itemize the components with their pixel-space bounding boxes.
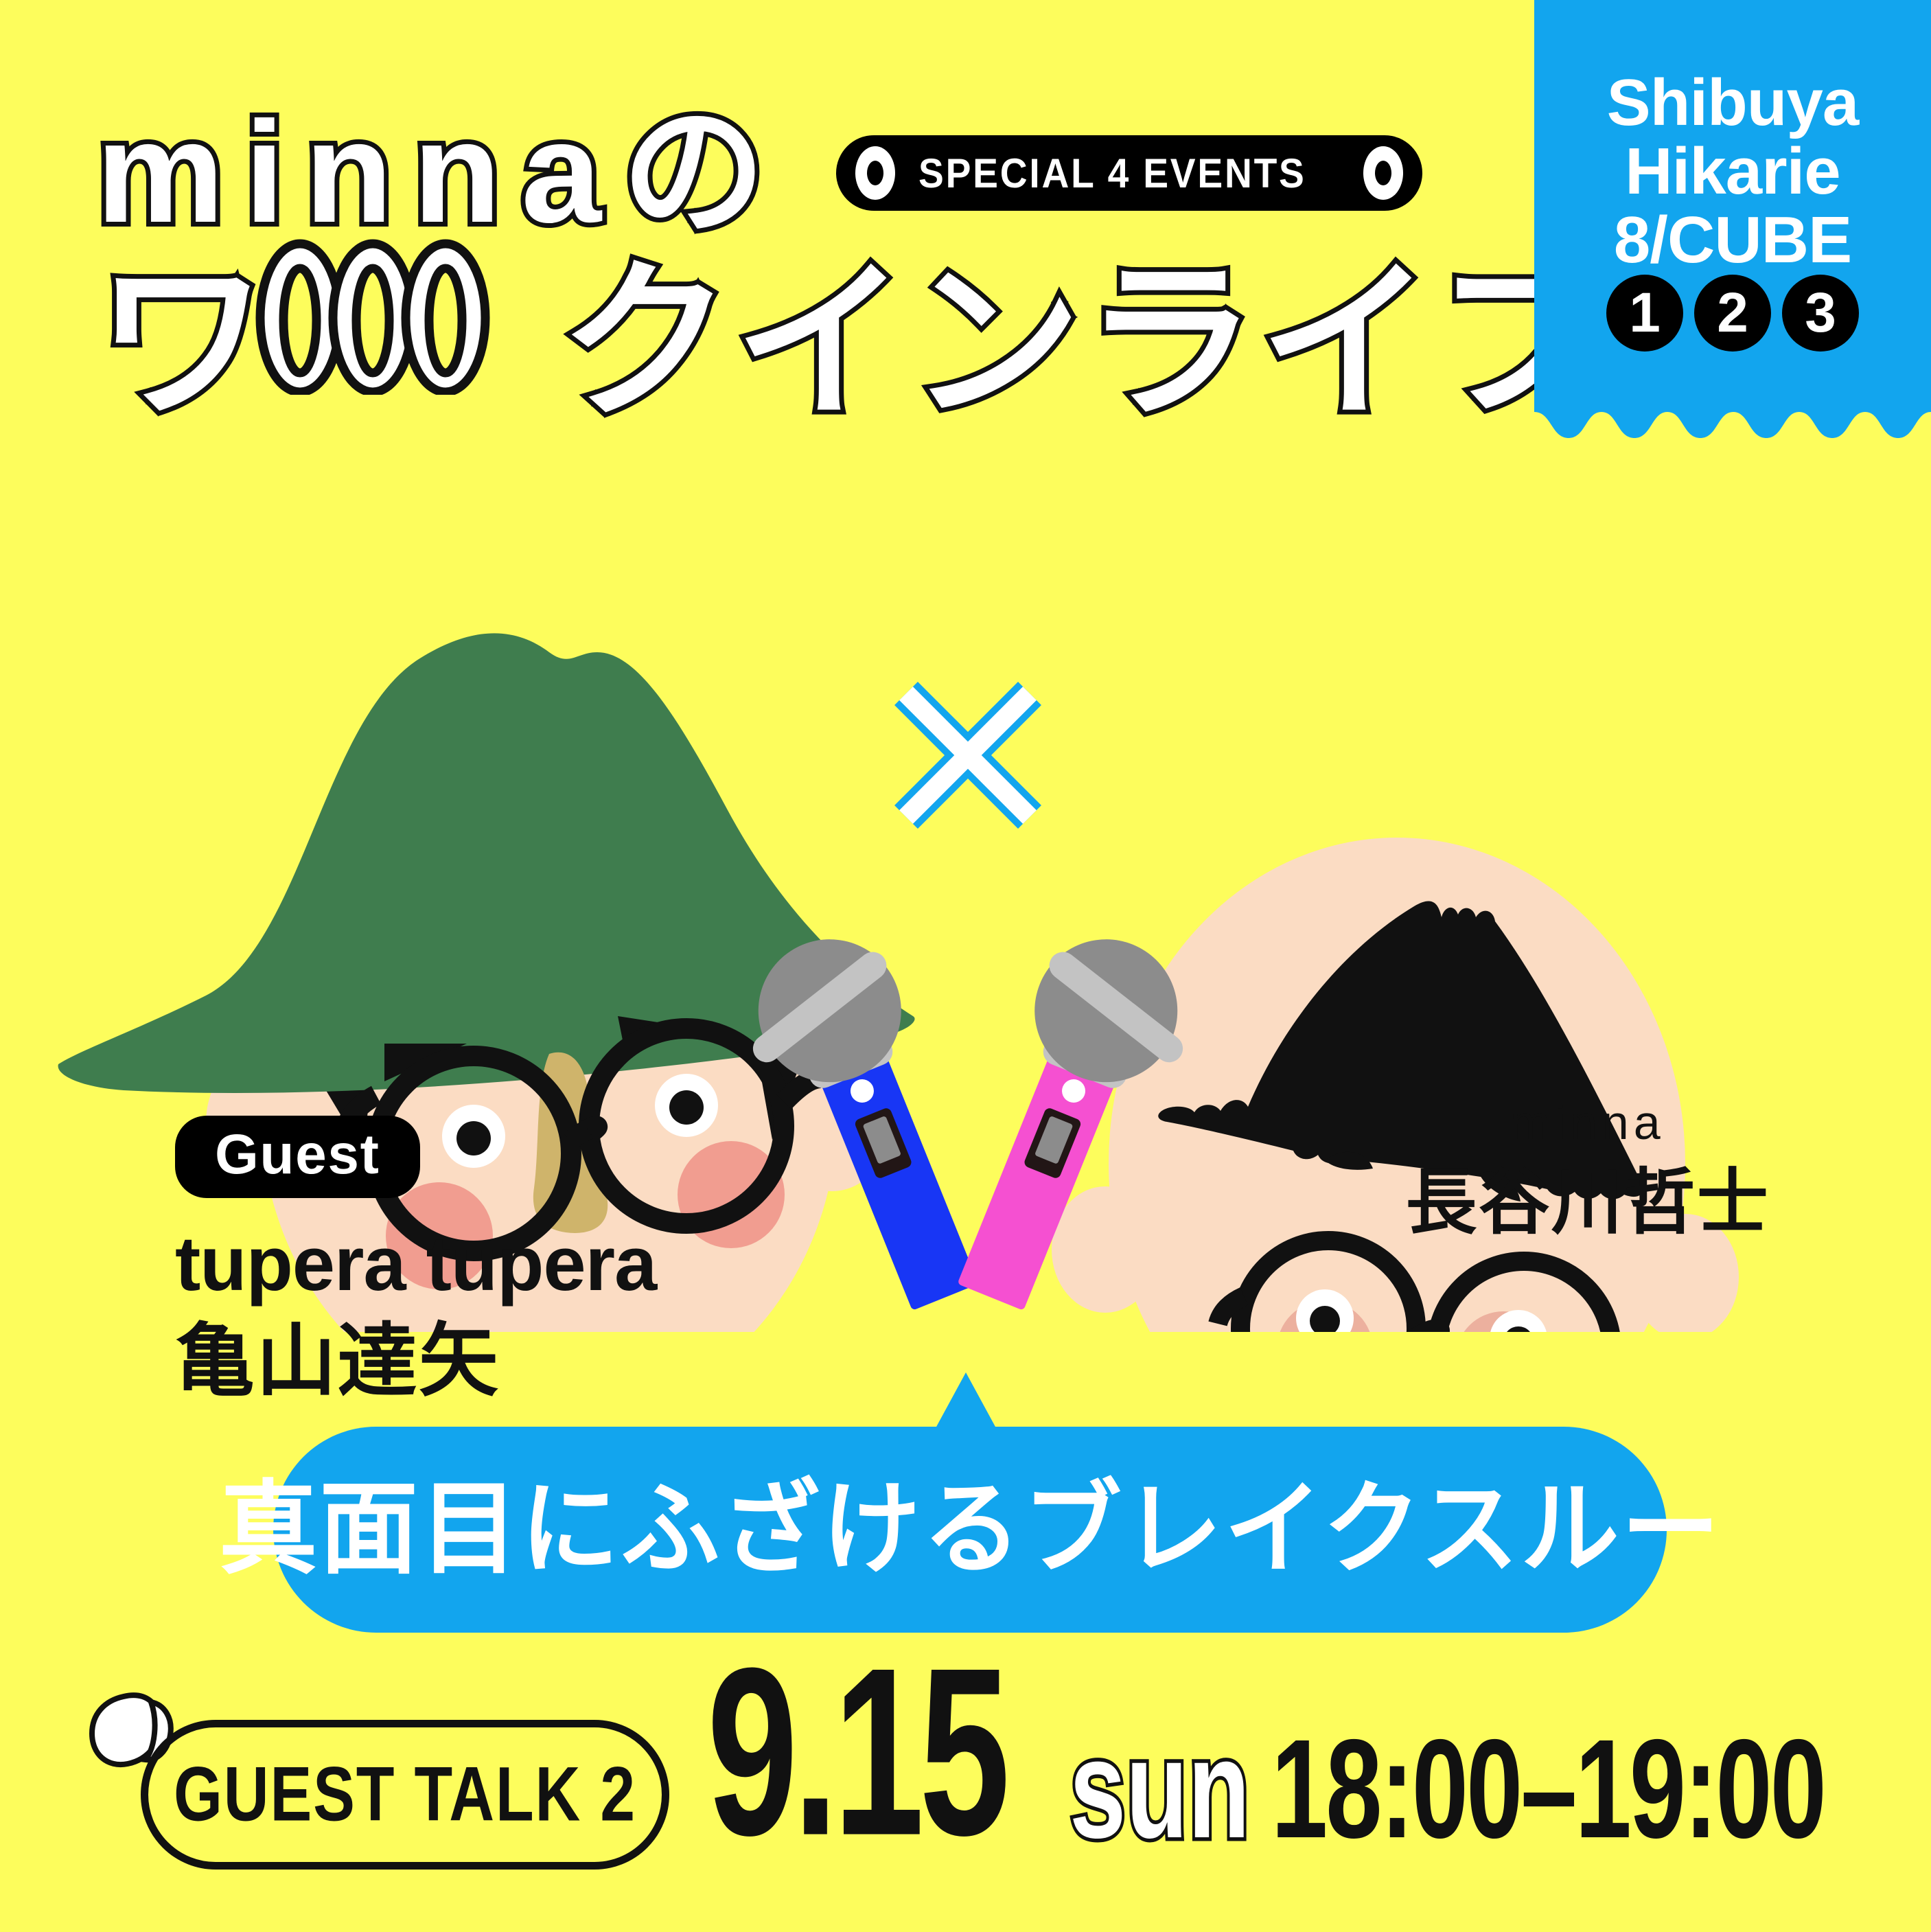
circle-donut-icon-left — [855, 146, 895, 200]
special-events-label: SPECIAL 4 EVENTS — [918, 150, 1306, 197]
host-label: minna — [1406, 1099, 1770, 1147]
host-name-ja: 長谷川哲士 — [1406, 1167, 1770, 1239]
logo-kana-prefix: ワ — [96, 246, 271, 438]
schedule-row: 9.15 sun 18:00–19:00 — [707, 1686, 1900, 1853]
circle-donut-icon-right — [1363, 146, 1403, 200]
poster-logo: minnaの ワクインライフ — [96, 62, 1469, 426]
guest-credit-block: Guest tupera tupera 亀山達矢 — [175, 1116, 793, 1405]
venue-line-1: Shibuya — [1534, 69, 1931, 137]
venue-room-number-3: 3 — [1782, 275, 1859, 352]
special-events-badge: SPECIAL 4 EVENTS — [836, 135, 1422, 211]
venue-room-numbers: 1 2 3 — [1534, 275, 1931, 352]
theme-banner: 真面目にふざけるブレイクスルー — [273, 1427, 1667, 1633]
guest-name-en: tupera tupera — [175, 1226, 793, 1302]
venue-address: Shibuya Hikarie 8/CUBE — [1534, 69, 1931, 274]
host-credit-block: minna 長谷川哲士 — [1406, 1099, 1770, 1239]
event-time: 18:00–19:00 — [1271, 1726, 1825, 1852]
event-poster: minnaの ワクインライフ SPECIAL 4 EVENTS — [0, 0, 1931, 1932]
event-date: 9.15 — [707, 1652, 1005, 1852]
venue-line-3: 8/CUBE — [1534, 206, 1931, 275]
cross-symbol — [906, 693, 1030, 817]
event-day-of-week: sun — [1069, 1726, 1250, 1852]
logo-kana-suffix: クインライフ — [559, 246, 1610, 438]
guest-badge: Guest — [175, 1116, 420, 1198]
logo-line-2: ワクインライフ — [96, 203, 1610, 451]
right-character — [1052, 838, 1739, 1332]
venue-line-2: Hikarie — [1534, 137, 1931, 206]
talk-badge-label: GUEST TALK 2 — [174, 1756, 636, 1833]
guest-name-ja: 亀山達矢 — [175, 1318, 793, 1405]
venue-room-number-2: 2 — [1694, 275, 1771, 352]
venue-flag: Shibuya Hikarie 8/CUBE 1 2 3 — [1534, 0, 1931, 443]
venue-room-number-1: 1 — [1606, 275, 1683, 352]
theme-title: 真面目にふざけるブレイクスルー — [218, 1479, 1721, 1580]
talk-badge: GUEST TALK 2 — [141, 1720, 669, 1870]
